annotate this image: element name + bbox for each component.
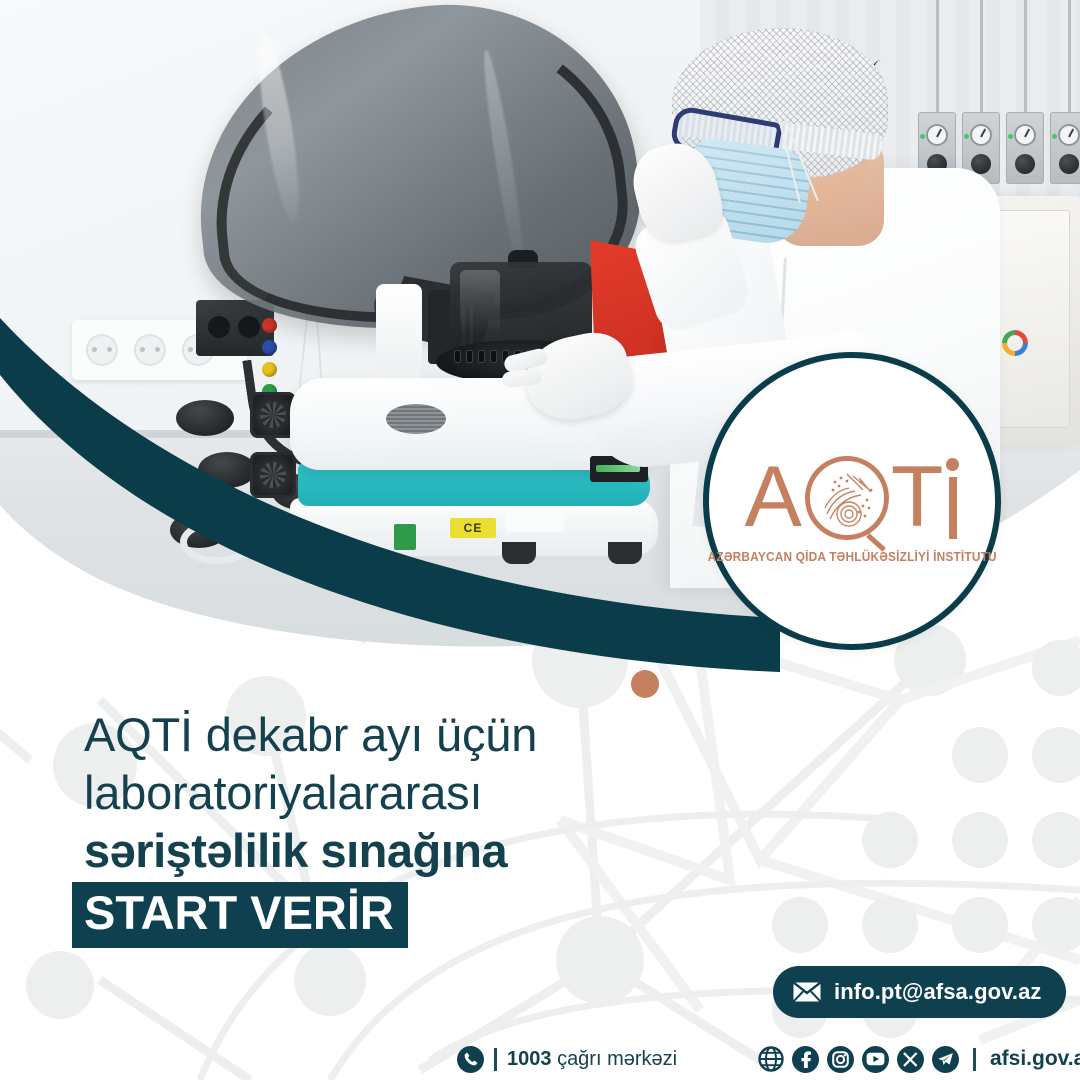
facebook-icon[interactable] (792, 1046, 819, 1073)
divider (973, 1048, 976, 1071)
logo-letter-a: A (745, 459, 803, 536)
instagram-icon[interactable] (827, 1046, 854, 1073)
logo-letter-t: T (891, 459, 945, 536)
youtube-icon[interactable] (862, 1046, 889, 1073)
phone-contact-group[interactable]: 1003 çağrı mərkəzi (457, 1046, 677, 1073)
website-text: afsi.gov.az (990, 1047, 1080, 1071)
aqti-logo-subtitle: AZƏRBAYCAN QİDA TƏHLÜKƏSİZLİYİ İNSTİTUTU (707, 550, 996, 564)
email-contact-pill[interactable]: info.pt@afsa.gov.az (773, 966, 1066, 1018)
phone-icon (457, 1046, 484, 1073)
headline-line-1: AQTİ dekabr ayı üçün (84, 706, 784, 764)
aqti-wordmark: A (745, 456, 960, 540)
logo-letter-i-dotted (946, 458, 959, 539)
aqti-logo-badge: A (703, 352, 1001, 650)
x-twitter-icon[interactable] (897, 1046, 924, 1073)
headline-highlight-start-verir: START VERİR (72, 882, 408, 948)
logo-i-dot (946, 458, 959, 471)
headline-line-3: səriştəlilik sınağına (84, 822, 784, 880)
decorative-dot-teal (650, 612, 700, 662)
divider (494, 1048, 497, 1071)
contact-bar: 1003 çağrı mərkəzi (0, 1038, 1080, 1080)
email-address-text: info.pt@afsa.gov.az (834, 979, 1042, 1005)
globe-icon[interactable] (757, 1046, 784, 1073)
decorative-dot-copper (631, 670, 659, 698)
phone-text: 1003 çağrı mərkəzi (507, 1048, 677, 1071)
envelope-icon (793, 982, 821, 1002)
headline-block: AQTİ dekabr ayı üçün laboratoriyalararas… (84, 706, 784, 948)
headline-line-2: laboratoriyalararası (84, 764, 784, 822)
telegram-icon[interactable] (932, 1046, 959, 1073)
phone-label: çağrı mərkəzi (557, 1048, 677, 1070)
logo-i-stem (949, 477, 957, 539)
logo-letter-q-fingerprint (805, 456, 889, 540)
social-media-poster: CE (0, 0, 1080, 1080)
phone-number: 1003 (507, 1048, 552, 1070)
social-links-group[interactable]: afsi.gov.az (757, 1046, 1080, 1073)
